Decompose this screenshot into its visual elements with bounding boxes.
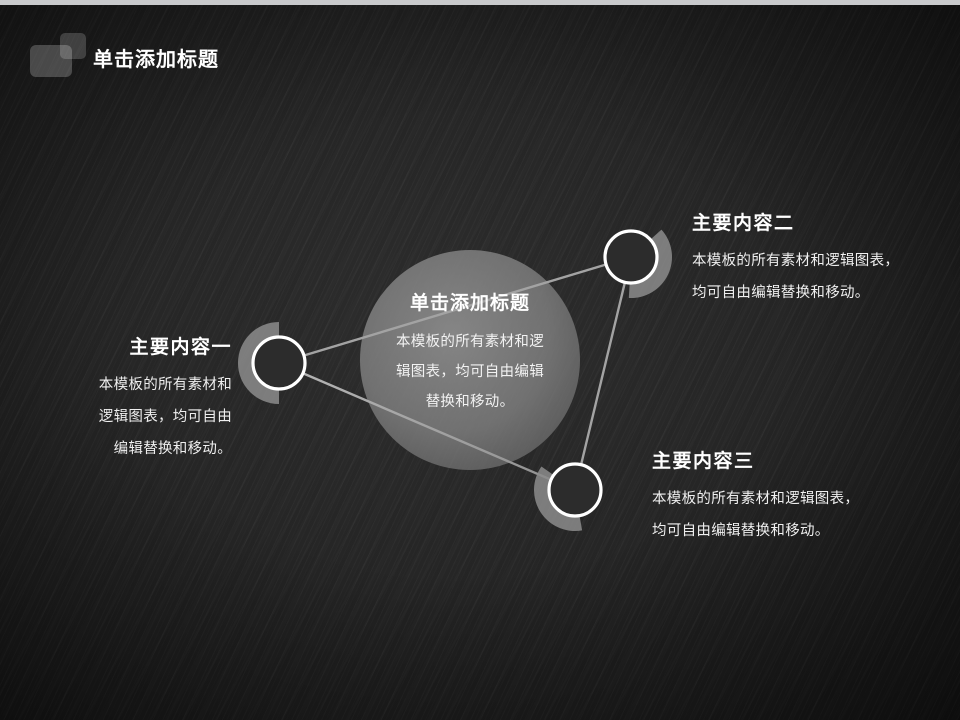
content-block-two-title[interactable]: 主要内容二 — [692, 208, 942, 235]
center-body-line: 替换和移动。 — [370, 387, 570, 417]
content-line: 本模板的所有素材和 — [52, 369, 232, 401]
content-block-one: 主要内容一 本模板的所有素材和 逻辑图表，均可自由 编辑替换和移动。 — [52, 332, 232, 465]
content-line: 本模板的所有素材和逻辑图表， — [652, 483, 902, 515]
content-line: 均可自由编辑替换和移动。 — [652, 515, 902, 547]
node-one[interactable] — [238, 322, 305, 404]
content-block-three-body[interactable]: 本模板的所有素材和逻辑图表， 均可自由编辑替换和移动。 — [652, 483, 902, 547]
center-body-line: 本模板的所有素材和逻 — [370, 327, 570, 357]
content-block-three: 主要内容三 本模板的所有素材和逻辑图表， 均可自由编辑替换和移动。 — [652, 446, 902, 547]
node-two-dot[interactable] — [605, 231, 657, 283]
content-block-three-title[interactable]: 主要内容三 — [652, 446, 902, 473]
content-line: 编辑替换和移动。 — [52, 433, 232, 465]
connector-two-three — [575, 257, 631, 490]
center-text-block: 单击添加标题 本模板的所有素材和逻 辑图表，均可自由编辑 替换和移动。 — [370, 288, 570, 417]
content-line: 逻辑图表，均可自由 — [52, 401, 232, 433]
node-three-dot[interactable] — [549, 464, 601, 516]
content-block-two: 主要内容二 本模板的所有素材和逻辑图表， 均可自由编辑替换和移动。 — [692, 208, 942, 309]
content-block-one-title[interactable]: 主要内容一 — [52, 332, 232, 359]
node-one-dot[interactable] — [253, 337, 305, 389]
center-body-line: 辑图表，均可自由编辑 — [370, 357, 570, 387]
slide-canvas: 单击添加标题 — [0, 0, 960, 720]
center-body[interactable]: 本模板的所有素材和逻 辑图表，均可自由编辑 替换和移动。 — [370, 327, 570, 417]
content-line: 均可自由编辑替换和移动。 — [692, 277, 942, 309]
content-block-two-body[interactable]: 本模板的所有素材和逻辑图表， 均可自由编辑替换和移动。 — [692, 245, 942, 309]
content-line: 本模板的所有素材和逻辑图表， — [692, 245, 942, 277]
content-block-one-body[interactable]: 本模板的所有素材和 逻辑图表，均可自由 编辑替换和移动。 — [52, 369, 232, 465]
center-title[interactable]: 单击添加标题 — [370, 288, 570, 315]
